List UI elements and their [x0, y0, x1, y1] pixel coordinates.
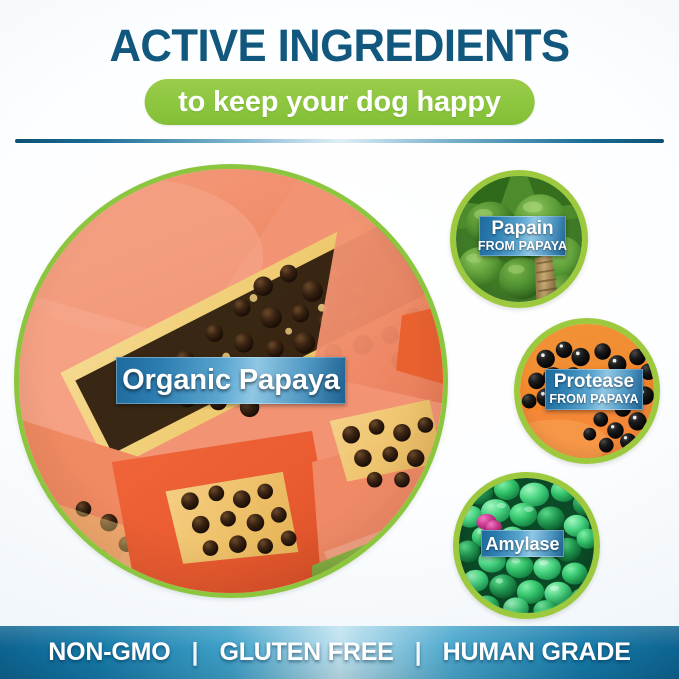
ingredient-label-protease: Protease	[554, 372, 634, 392]
product-infographic: ACTIVE INGREDIENTS to keep your dog happ…	[0, 0, 679, 679]
hero-caption-label: Organic Papaya	[122, 364, 340, 397]
header-divider	[15, 139, 664, 143]
claims-banner-inner: NON-GMO | GLUTEN FREE | HUMAN GRADE	[27, 638, 651, 667]
ingredient-label-amylase: Amylase	[485, 534, 559, 554]
subtitle-pill: to keep your dog happy	[144, 79, 535, 125]
hero-caption-plate: Organic Papaya	[116, 357, 346, 404]
claim-gluten-free: GLUTEN FREE	[198, 638, 414, 667]
subtitle-text: to keep your dog happy	[178, 86, 501, 119]
header-section: ACTIVE INGREDIENTS to keep your dog happ…	[0, 0, 679, 150]
ingredient-source-protease: FROM PAPAYA	[549, 392, 638, 406]
ingredient-caption-plate-protease: Protease FROM PAPAYA	[545, 369, 643, 410]
claim-human-grade: HUMAN GRADE	[422, 638, 652, 667]
ingredient-label-papain: Papain	[491, 219, 553, 239]
claim-separator-2: |	[415, 638, 422, 667]
claim-non-gmo: NON-GMO	[27, 638, 191, 667]
ingredient-caption-plate-amylase: Amylase	[481, 530, 564, 557]
claim-separator-1: |	[191, 638, 198, 667]
page-title: ACTIVE INGREDIENTS	[10, 20, 669, 72]
claims-banner: NON-GMO | GLUTEN FREE | HUMAN GRADE	[0, 626, 679, 679]
ingredient-caption-plate-papain: Papain FROM PAPAYA	[479, 216, 566, 256]
ingredient-source-papain: FROM PAPAYA	[478, 239, 567, 253]
